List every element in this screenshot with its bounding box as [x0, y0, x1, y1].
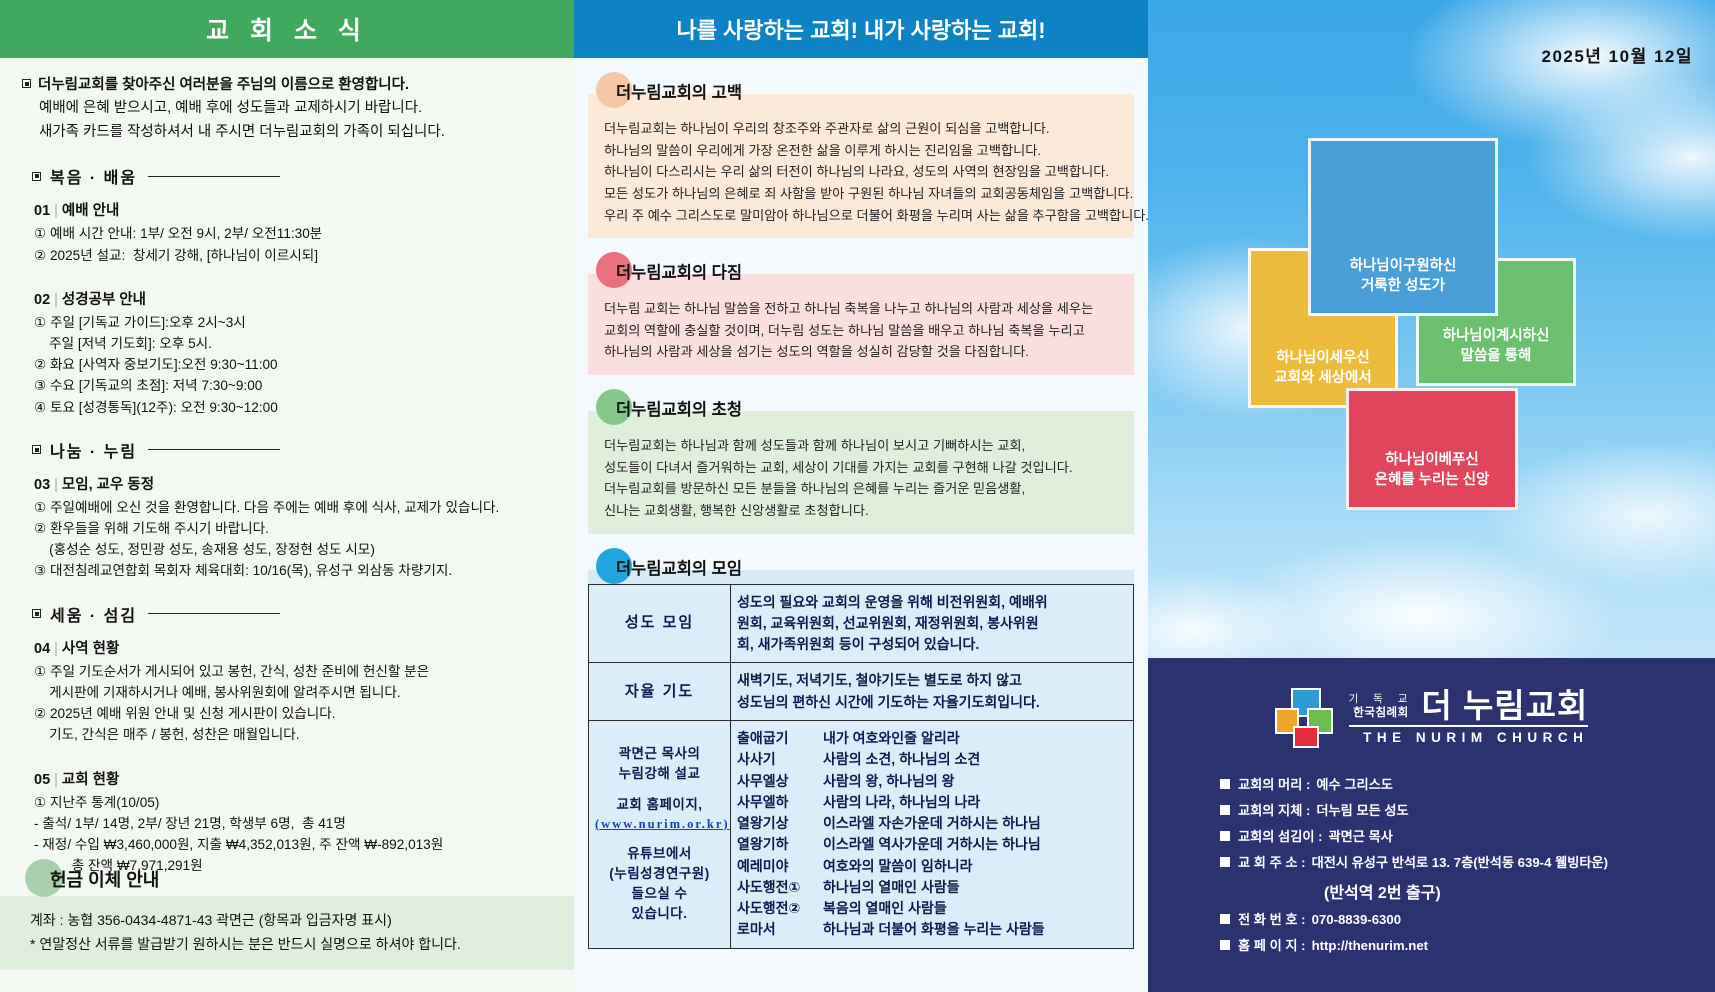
- item-line: (홍성순 성도, 정민광 성도, 송재용 성도, 장정현 성도 시모): [34, 539, 552, 560]
- sermon-row: 사무엘상사람의 왕, 하나님의 왕: [737, 771, 1127, 792]
- welcome-lead-row: 더누림교회를 찾아주신 여러분을 주님의 이름으로 환영합니다.: [22, 74, 552, 97]
- sermon-book: 로마서: [737, 919, 823, 940]
- left-column: 교 회 소 식 더누림교회를 찾아주신 여러분을 주님의 이름으로 환영합니다.…: [0, 0, 574, 992]
- block-line: 더누림 교회는 하나님 말씀을 전하고 하나님 축복을 나누고 하나님의 사람과…: [604, 298, 1118, 320]
- contact-label: 교 회 주 소 :: [1238, 852, 1306, 873]
- sermon-title: 하나님과 더불어 화평을 누리는 사람들: [823, 919, 1045, 940]
- item-line: 게시판에 기재하시거나 예배, 봉사위원회에 알려주시면 됩니다.: [34, 682, 552, 703]
- section-title: 나눔 · 누림: [50, 438, 137, 462]
- contact-row-phone: 전 화 번 호 : 070-8839-6300: [1220, 909, 1715, 930]
- item-number: 03: [34, 477, 50, 493]
- contact-value: 곽면근 목사: [1329, 826, 1393, 847]
- contact-label: 교회의 지체 :: [1238, 800, 1310, 821]
- contact-value: 예수 그리스도: [1316, 774, 1392, 795]
- item-title: 01|예배 안내: [34, 199, 552, 220]
- table-row: 성도 모임 성도의 필요와 교회의 운영을 위해 비전위원회, 예배위 원회, …: [589, 584, 1134, 663]
- logo-text: 기 독 교 한국침례회 더 누림교회 THE NURIM CHURCH: [1349, 689, 1589, 745]
- sermon-title: 하나님의 열매인 사람들: [823, 877, 960, 898]
- section-header-sharing: 나눔 · 누림: [32, 438, 552, 462]
- logo-top-row: 기 독 교 한국침례회 더 누림교회: [1349, 689, 1589, 722]
- bullet-square-icon: [1220, 779, 1230, 789]
- sermon-title: 이스라엘 역사가운데 거하시는 하나님: [823, 834, 1041, 855]
- bullet-square-icon: [32, 445, 41, 454]
- row-body: 성도의 필요와 교회의 운영을 위해 비전위원회, 예배위 원회, 교육위원회,…: [731, 584, 1134, 663]
- contact-row: 교회의 섬김이 : 곽면근 목사: [1220, 826, 1715, 847]
- sermon-title: 사람의 왕, 하나님의 왕: [823, 771, 954, 792]
- item-name: 예배 안내: [62, 203, 119, 219]
- contact-row: 교회의 지체 : 더누림 모든 성도: [1220, 800, 1715, 821]
- block-meetings: 더누림교회의 모임 성도 모임 성도의 필요와 교회의 운영을 위해 비전위원회…: [588, 548, 1134, 949]
- logo-main-name: 더 누림교회: [1421, 689, 1588, 722]
- bullet-square-icon: [1220, 940, 1230, 950]
- contact-label: 홈 페 이 지 :: [1238, 935, 1306, 956]
- sermon-book: 예레미야: [737, 856, 823, 877]
- block-invitation: 더누림교회의 초청 더누림교회는 하나님과 함께 성도들과 함께 하나님이 보시…: [588, 389, 1134, 534]
- item-title: 02|성경공부 안내: [34, 288, 552, 309]
- row-line: 회, 새가족위원회 등이 구성되어 있습니다.: [737, 634, 1127, 655]
- item-line: ② 2025년 설교: 창세기 강해, [하나님이 이르시되]: [34, 245, 552, 266]
- row-body: 새벽기도, 저녁기도, 철야기도는 별도로 하지 않고 성도님의 편하신 시간에…: [731, 663, 1134, 721]
- bullet-square-icon: [22, 79, 31, 88]
- sermon-book: 열왕기하: [737, 834, 823, 855]
- offering-transfer-block: 헌금 이체 안내 계좌 : 농협 356-0434-4871-43 곽면근 (항…: [0, 862, 574, 970]
- sermon-label-line: 있습니다.: [595, 904, 724, 924]
- contact-label: 교회의 머리 :: [1238, 774, 1310, 795]
- sermon-row: 열왕기상이스라엘 자손가운데 거하시는 하나님: [737, 813, 1127, 834]
- sermon-list-cell: 출애굽기내가 여호와인줄 알리라 사사기사람의 소견, 하나님의 소견 사무엘상…: [731, 721, 1134, 949]
- block-body: 더누림교회는 하나님과 함께 성도들과 함께 하나님이 보시고 기뻐하시는 교회…: [588, 425, 1134, 534]
- block-header: 더누림교회의 초청: [588, 389, 1134, 425]
- contact-label: 교회의 섬김이 :: [1238, 826, 1323, 847]
- church-logo: 기 독 교 한국침례회 더 누림교회 THE NURIM CHURCH: [1148, 658, 1715, 746]
- item-name: 교회 현황: [62, 772, 119, 788]
- sermon-label-line: 곽면근 목사의: [595, 744, 724, 764]
- sermon-label-line: 들으실 수: [595, 884, 724, 904]
- logo-kr-line2: 한국침례회: [1349, 706, 1414, 720]
- left-header: 교 회 소 식: [0, 0, 574, 58]
- sermon-row: 사도행전②복음의 열매인 사람들: [737, 898, 1127, 919]
- item-04: 04|사역 현황 ① 주일 기도순서가 게시되어 있고 봉헌, 간식, 성찬 준…: [34, 637, 552, 746]
- sermon-row: 사사기사람의 소견, 하나님의 소견: [737, 749, 1127, 770]
- item-line: ④ 토요 [성경통독](12주): 오전 9:30~12:00: [34, 397, 552, 418]
- contact-address-line2: (반석역 2번 출구): [1220, 879, 1715, 903]
- section-rule: [148, 449, 280, 450]
- logo-english-name: THE NURIM CHURCH: [1349, 725, 1589, 745]
- welcome-lead: 더누림교회를 찾아주신 여러분을 주님의 이름으로 환영합니다.: [38, 77, 409, 93]
- item-line: ① 지난주 통계(10/05): [34, 792, 552, 813]
- row-label: 성도 모임: [589, 584, 731, 663]
- row-line: 새벽기도, 저녁기도, 철야기도는 별도로 하지 않고: [737, 670, 1127, 691]
- item-title: 03|모임, 교우 동정: [34, 473, 552, 494]
- tile-line1: 하나님이구원하신: [1350, 256, 1457, 277]
- tile-line2: 거룩한 성도가: [1350, 276, 1457, 297]
- item-line: ③ 대전침례교연합회 목회자 체육대회: 10/16(목), 유성구 외삼동 차…: [34, 560, 552, 581]
- block-line: 우리 주 예수 그리스도로 말미암아 하나님으로 더불어 화평을 누리며 사는 …: [604, 205, 1118, 227]
- middle-body: 더누림교회의 고백 더누림교회는 하나님이 우리의 창조주와 주관자로 삶의 근…: [574, 58, 1148, 949]
- offering-account: 계좌 : 농협 356-0434-4871-43 곽면근 (항목과 입금자명 표…: [30, 908, 544, 932]
- contact-row: 교회의 머리 : 예수 그리스도: [1220, 774, 1715, 795]
- tile-red: 하나님이베푸신 은혜를 누리는 신앙: [1346, 388, 1518, 510]
- bullet-square-icon: [1220, 914, 1230, 924]
- item-line: ① 예배 시간 안내: 1부/ 오전 9시, 2부/ 오전11:30분: [34, 223, 552, 244]
- contact-row-homepage: 홈 페 이 지 : http://thenurim.net: [1220, 935, 1715, 956]
- bulletin-date: 2025년 10월 12일: [1541, 42, 1693, 67]
- item-title: 04|사역 현황: [34, 637, 552, 658]
- sermon-book: 사무엘상: [737, 771, 823, 792]
- section-rule: [148, 613, 280, 614]
- item-line: 주일 [저녁 기도회]: 오후 5시.: [34, 333, 552, 354]
- sermon-title: 사람의 나라, 하나님의 나라: [823, 792, 980, 813]
- contact-value: 더누림 모든 성도: [1316, 800, 1408, 821]
- tile-blue: 하나님이구원하신 거룩한 성도가: [1308, 138, 1498, 316]
- item-line: ① 주일 기도순서가 게시되어 있고 봉헌, 간식, 성찬 준비에 헌신할 분은: [34, 661, 552, 682]
- sermon-book: 열왕기상: [737, 813, 823, 834]
- sermon-row: 출애굽기내가 여호와인줄 알리라: [737, 728, 1127, 749]
- block-line: 하나님의 사람과 세상을 섬기는 성도의 역할을 성실히 감당할 것을 다짐합니…: [604, 341, 1118, 363]
- block-line: 신나는 교회생활, 행복한 신앙생활로 초청합니다.: [604, 500, 1118, 522]
- contact-value: 대전시 유성구 반석로 13. 7층(반석동 639-4 웰빙타운): [1312, 852, 1608, 873]
- item-05: 05|교회 현황 ① 지난주 통계(10/05) - 출석/ 1부/ 14명, …: [34, 768, 552, 877]
- item-number: 02: [34, 292, 50, 308]
- item-line: ① 주일 [기독교 가이드]:오후 2시~3시: [34, 312, 552, 333]
- welcome-line3: 새가족 카드를 작성하셔서 내 주시면 더누림교회의 가족이 되십니다.: [22, 121, 552, 144]
- section-title: 세움 · 섬김: [50, 602, 137, 626]
- row-line: 성도의 필요와 교회의 운영을 위해 비전위원회, 예배위: [737, 592, 1127, 613]
- contact-label: 전 화 번 호 :: [1238, 909, 1306, 930]
- offering-transfer-body: 계좌 : 농협 356-0434-4871-43 곽면근 (항목과 입금자명 표…: [0, 896, 574, 970]
- sermon-title: 사람의 소견, 하나님의 소견: [823, 749, 980, 770]
- item-03: 03|모임, 교우 동정 ① 주일예배에 오신 것을 환영합니다. 다음 주에는…: [34, 473, 552, 582]
- item-name: 모임, 교우 동정: [62, 477, 154, 493]
- bullet-square-icon: [1220, 831, 1230, 841]
- block-header: 더누림교회의 모임: [588, 548, 1134, 584]
- meetings-table: 성도 모임 성도의 필요와 교회의 운영을 위해 비전위원회, 예배위 원회, …: [588, 584, 1134, 949]
- row-line: 원회, 교육위원회, 선교위원회, 재정위원회, 봉사위원: [737, 613, 1127, 634]
- sermon-label-cell: 곽면근 목사의 누림강해 설교 교회 홈페이지, (www.nurim.or.k…: [589, 721, 731, 949]
- block-line: 더누림교회는 하나님과 함께 성도들과 함께 하나님이 보시고 기뻐하시는 교회…: [604, 435, 1118, 457]
- sermon-label-line: 유튜브에서: [595, 844, 724, 864]
- table-row: 자율 기도 새벽기도, 저녁기도, 철야기도는 별도로 하지 않고 성도님의 편…: [589, 663, 1134, 721]
- section-rule: [148, 176, 280, 177]
- table-row-sermons: 곽면근 목사의 누림강해 설교 교회 홈페이지, (www.nurim.or.k…: [589, 721, 1134, 949]
- sermon-title: 이스라엘 자손가운데 거하시는 하나님: [823, 813, 1041, 834]
- left-body: 더누림교회를 찾아주신 여러분을 주님의 이름으로 환영합니다. 예배에 은혜 …: [0, 58, 574, 876]
- block-line: 교회의 역할에 충실할 것이며, 더누림 성도는 하나님 말씀을 배우고 하나님…: [604, 320, 1118, 342]
- welcome-line2: 예배에 은혜 받으시고, 예배 후에 성도들과 교제하시기 바랍니다.: [22, 97, 552, 120]
- sermon-book: 사도행전②: [737, 898, 823, 919]
- section-header-building: 세움 · 섬김: [32, 602, 552, 626]
- sermon-book: 사사기: [737, 749, 823, 770]
- item-line: ③ 수요 [기독교의 초점]: 저녁 7:30~9:00: [34, 375, 552, 396]
- item-line: - 출석/ 1부/ 14명, 2부/ 장년 21명, 학생부 6명, 총 41명: [34, 813, 552, 834]
- offering-transfer-title: 헌금 이체 안내: [50, 866, 159, 892]
- block-title: 더누림교회의 다짐: [616, 259, 742, 283]
- item-01: 01|예배 안내 ① 예배 시간 안내: 1부/ 오전 9시, 2부/ 오전11…: [34, 199, 552, 265]
- contact-list: 교회의 머리 : 예수 그리스도 교회의 지체 : 더누림 모든 성도 교회의 …: [1220, 774, 1715, 956]
- item-line: ① 주일예배에 오신 것을 환영합니다. 다음 주에는 예배 후에 식사, 교제…: [34, 497, 552, 518]
- row-line: 성도님의 편하신 시간에 기도하는 자율기도회입니다.: [737, 692, 1127, 713]
- middle-column: 나를 사랑하는 교회! 내가 사랑하는 교회! 더누림교회의 고백 더누림교회는…: [574, 0, 1148, 992]
- sermon-row: 사무엘하사람의 나라, 하나님의 나라: [737, 792, 1127, 813]
- sermon-row: 사도행전①하나님의 열매인 사람들: [737, 877, 1127, 898]
- offering-transfer-header: 헌금 이체 안내: [0, 862, 574, 896]
- block-line: 성도들이 다녀서 즐거워하는 교회, 세상이 기대를 가지는 교회를 구현해 나…: [604, 457, 1118, 479]
- tile-line1: 하나님이세우신: [1274, 348, 1371, 369]
- block-vow: 더누림교회의 다짐 더누림 교회는 하나님 말씀을 전하고 하나님 축복을 나누…: [588, 252, 1134, 375]
- block-header: 더누림교회의 고백: [588, 72, 1134, 108]
- sermon-row: 열왕기하이스라엘 역사가운데 거하시는 하나님: [737, 834, 1127, 855]
- block-title: 더누림교회의 초청: [616, 396, 742, 420]
- footer-panel: 기 독 교 한국침례회 더 누림교회 THE NURIM CHURCH 교회의 …: [1148, 658, 1715, 992]
- tile-line2: 교회와 세상에서: [1274, 368, 1371, 389]
- logo-square-red-icon: [1293, 726, 1319, 748]
- bulletin-page: 교 회 소 식 더누림교회를 찾아주신 여러분을 주님의 이름으로 환영합니다.…: [0, 0, 1715, 992]
- logo-denomination: 기 독 교 한국침례회: [1349, 693, 1414, 723]
- section-title: 복음 · 배움: [50, 164, 137, 188]
- item-number: 01: [34, 203, 50, 219]
- right-column: 2025년 10월 12일 하나님이세우신 교회와 세상에서 하나님이계시하신 …: [1148, 0, 1715, 992]
- bullet-square-icon: [1220, 857, 1230, 867]
- sermon-book: 사도행전①: [737, 877, 823, 898]
- item-name: 성경공부 안내: [62, 292, 146, 308]
- logo-kr-line1: 기 독 교: [1349, 693, 1414, 706]
- bullet-square-icon: [32, 172, 41, 181]
- tile-line2: 은혜를 누리는 신앙: [1375, 470, 1490, 491]
- sermon-book: 사무엘하: [737, 792, 823, 813]
- item-line: ② 환우들을 위해 기도해 주시기 바랍니다.: [34, 518, 552, 539]
- item-name: 사역 현황: [62, 641, 119, 657]
- sermon-row: 예레미야여호와의 말씀이 임하니라: [737, 856, 1127, 877]
- block-confession: 더누림교회의 고백 더누림교회는 하나님이 우리의 창조주와 주관자로 삶의 근…: [588, 72, 1134, 238]
- contact-value: 070-8839-6300: [1312, 909, 1401, 930]
- item-line: - 재정/ 수입 ₩3,460,000원, 지출 ₩4,352,013원, 주 …: [34, 834, 552, 855]
- row-label: 자율 기도: [589, 663, 731, 721]
- block-body: 더누림 교회는 하나님 말씀을 전하고 하나님 축복을 나누고 하나님의 사람과…: [588, 288, 1134, 375]
- block-title: 더누림교회의 고백: [616, 79, 742, 103]
- sermon-row: 로마서하나님과 더불어 화평을 누리는 사람들: [737, 919, 1127, 940]
- block-line: 하나님의 말씀이 우리에게 가장 온전한 삶을 이루게 하시는 진리임을 고백합…: [604, 140, 1118, 162]
- sermon-label-line: 교회 홈페이지,: [595, 795, 724, 815]
- sermon-title: 내가 여호와인줄 알리라: [823, 728, 960, 749]
- block-line: 더누림교회를 방문하신 모든 분들을 하나님의 은혜를 누리는 즐거운 믿음생활…: [604, 478, 1118, 500]
- sermon-book: 출애굽기: [737, 728, 823, 749]
- block-line: 모든 성도가 하나님의 은혜로 죄 사함을 받아 구원된 하나님 자녀들의 교회…: [604, 183, 1118, 205]
- item-number: 05: [34, 772, 50, 788]
- block-title: 더누림교회의 모임: [616, 555, 742, 579]
- welcome-block: 더누림교회를 찾아주신 여러분을 주님의 이름으로 환영합니다. 예배에 은혜 …: [22, 74, 552, 144]
- middle-header: 나를 사랑하는 교회! 내가 사랑하는 교회!: [574, 0, 1148, 58]
- item-number: 04: [34, 641, 50, 657]
- item-line: ② 화요 [사역자 중보기도]:오전 9:30~11:00: [34, 354, 552, 375]
- tile-line1: 하나님이계시하신: [1443, 326, 1550, 347]
- sermon-title: 여호와의 말씀이 임하니라: [823, 856, 972, 877]
- section-header-gospel: 복음 · 배움: [32, 164, 552, 188]
- homepage-link[interactable]: http://thenurim.net: [1312, 935, 1428, 956]
- block-header: 더누림교회의 다짐: [588, 252, 1134, 288]
- tile-line1: 하나님이베푸신: [1375, 450, 1490, 471]
- sermon-label-line: (누림성경연구원): [595, 864, 724, 884]
- item-line: ② 2025년 예배 위원 안내 및 신청 게시판이 있습니다.: [34, 703, 552, 724]
- sermon-label-line: 누림강해 설교: [595, 764, 724, 784]
- bullet-square-icon: [32, 609, 41, 618]
- sermon-title: 복음의 열매인 사람들: [823, 898, 947, 919]
- contact-row-address: 교 회 주 소 : 대전시 유성구 반석로 13. 7층(반석동 639-4 웰…: [1220, 852, 1715, 873]
- church-website-link[interactable]: (www.nurim.or.kr): [595, 815, 724, 834]
- logo-squares-icon: [1275, 688, 1337, 746]
- tile-line2: 말씀을 통해: [1443, 346, 1550, 367]
- bullet-square-icon: [1220, 805, 1230, 815]
- item-title: 05|교회 현황: [34, 768, 552, 789]
- item-line: 기도, 간식은 매주 / 봉헌, 성찬은 매월입니다.: [34, 724, 552, 745]
- block-line: 더누림교회는 하나님이 우리의 창조주와 주관자로 삶의 근원이 되심을 고백합…: [604, 118, 1118, 140]
- offering-note: * 연말정산 서류를 발급받기 원하시는 분은 반드시 실명으로 하셔야 합니다…: [30, 932, 544, 956]
- block-body: 더누림교회는 하나님이 우리의 창조주와 주관자로 삶의 근원이 되심을 고백합…: [588, 108, 1134, 238]
- item-02: 02|성경공부 안내 ① 주일 [기독교 가이드]:오후 2시~3시 주일 [저…: [34, 288, 552, 418]
- block-line: 하나님이 다스리시는 우리 삶의 터전이 하나님의 나라요, 성도의 사역의 현…: [604, 161, 1118, 183]
